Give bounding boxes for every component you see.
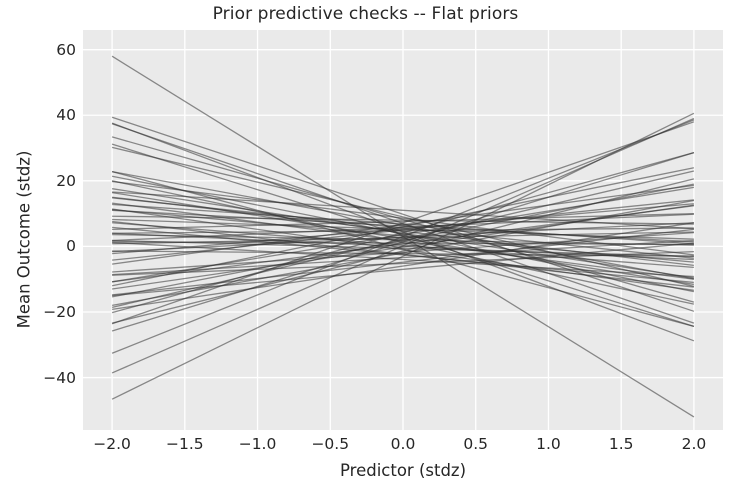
x-tick-label: −1.5: [166, 435, 204, 453]
x-tick-label: −1.0: [239, 435, 277, 453]
x-tick-label: 1.0: [536, 435, 561, 453]
y-axis-label: Mean Outcome (stdz): [15, 40, 34, 440]
x-tick-label: 0.5: [463, 435, 488, 453]
plot-area: [83, 30, 723, 430]
x-tick-label: 2.0: [682, 435, 707, 453]
plot-canvas: [83, 30, 723, 430]
x-tick-label: 0.0: [391, 435, 416, 453]
x-tick-label: −2.0: [93, 435, 131, 453]
chart-title: Prior predictive checks -- Flat priors: [0, 4, 731, 24]
x-axis-label: Predictor (stdz): [83, 461, 723, 480]
x-tick-label: −0.5: [311, 435, 349, 453]
chart-figure: Prior predictive checks -- Flat priors 6…: [0, 0, 731, 491]
x-tick-label: 1.5: [609, 435, 634, 453]
y-axis-ticks: 6040200−20−40: [0, 0, 76, 491]
